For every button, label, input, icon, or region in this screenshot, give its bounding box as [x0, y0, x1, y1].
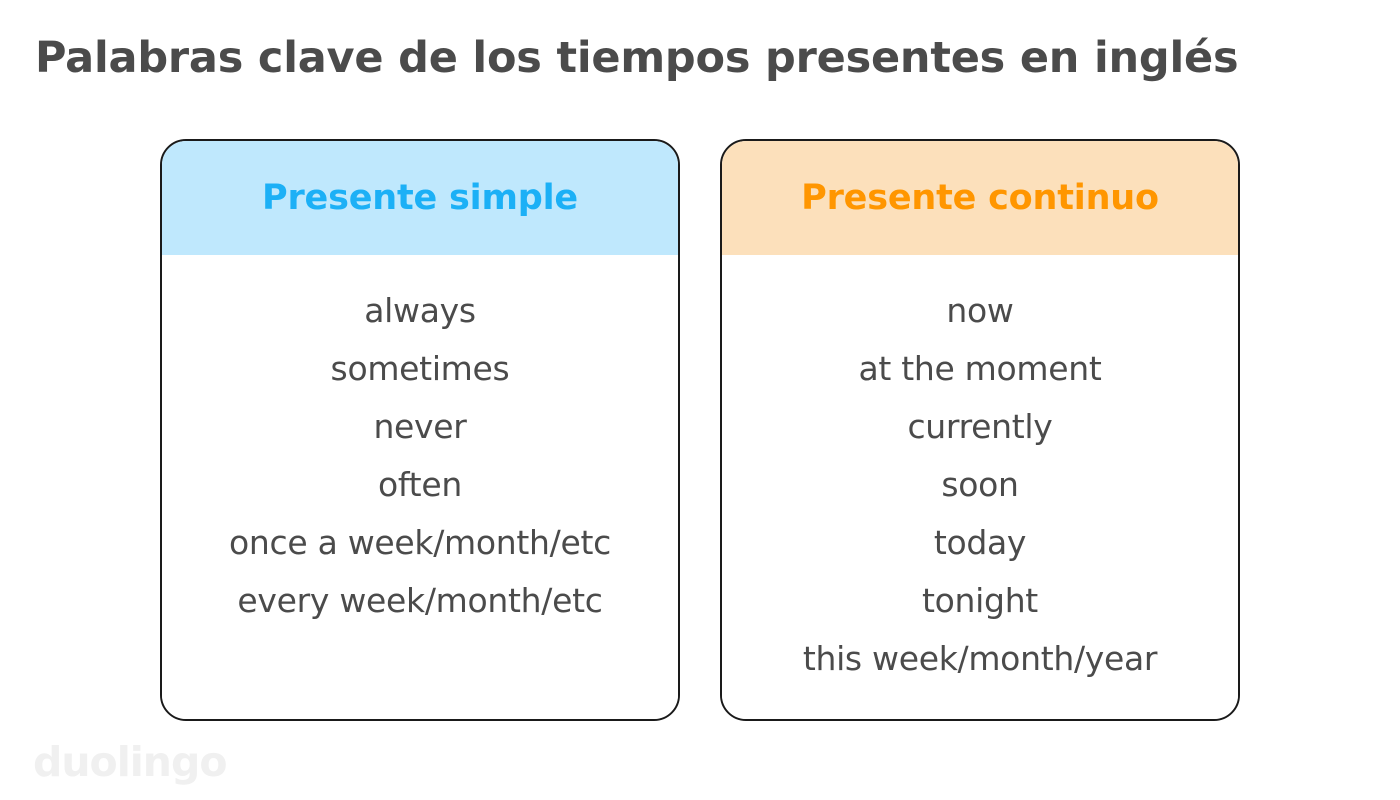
list-item: now — [946, 282, 1013, 340]
page-title: Palabras clave de los tiempos presentes … — [35, 33, 1238, 83]
list-item: this week/month/year — [803, 630, 1157, 688]
list-item: today — [934, 514, 1026, 572]
cards-container: Presente simple always sometimes never o… — [160, 139, 1240, 721]
list-item: tonight — [922, 572, 1038, 630]
card-header-presente-continuo: Presente continuo — [722, 141, 1238, 255]
card-presente-continuo: Presente continuo now at the moment curr… — [720, 139, 1240, 721]
card-title-presente-continuo: Presente continuo — [801, 178, 1159, 218]
list-item: at the moment — [858, 340, 1101, 398]
card-header-presente-simple: Presente simple — [162, 141, 678, 255]
duolingo-logo: duolingo — [33, 738, 227, 786]
word-list-presente-simple: always sometimes never often once a week… — [162, 255, 678, 719]
card-presente-simple: Presente simple always sometimes never o… — [160, 139, 680, 721]
list-item: every week/month/etc — [237, 572, 602, 630]
word-list-presente-continuo: now at the moment currently soon today t… — [722, 255, 1238, 719]
list-item: once a week/month/etc — [229, 514, 611, 572]
list-item: sometimes — [331, 340, 510, 398]
list-item: always — [364, 282, 476, 340]
list-item: soon — [941, 456, 1018, 514]
card-title-presente-simple: Presente simple — [262, 178, 578, 218]
list-item: never — [373, 398, 466, 456]
list-item: currently — [907, 398, 1052, 456]
list-item: often — [378, 456, 462, 514]
